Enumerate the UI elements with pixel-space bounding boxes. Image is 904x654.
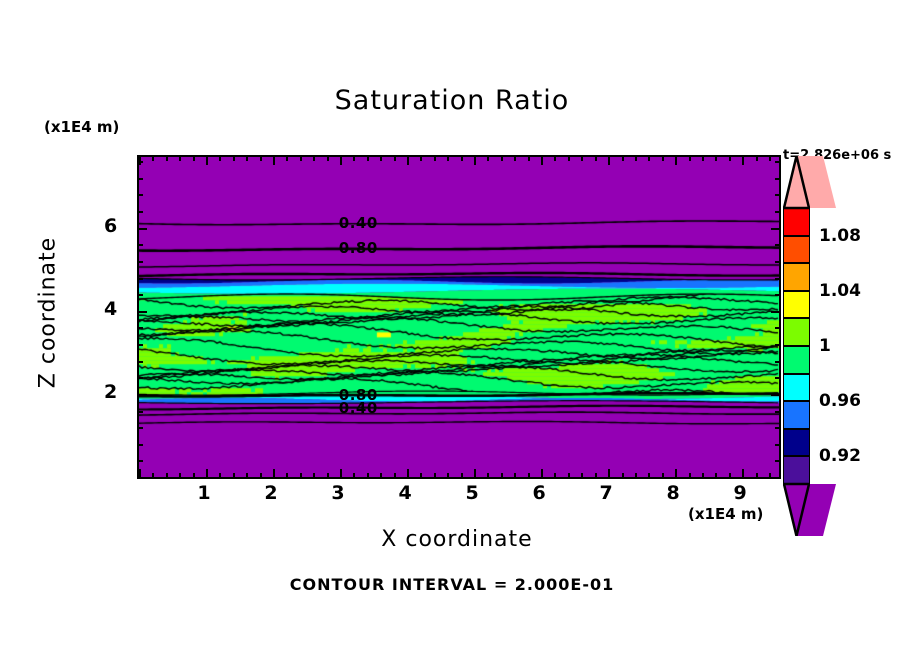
axis-tick xyxy=(501,473,503,478)
axis-tick xyxy=(461,156,463,161)
colorbar-band xyxy=(783,346,810,374)
axis-tick xyxy=(528,156,530,161)
colorbar-tick-label: 0.92 xyxy=(819,446,861,466)
axis-tick xyxy=(300,156,302,161)
axis-tick xyxy=(420,156,422,161)
axis-tick xyxy=(487,156,489,161)
z-axis-units-label: (x1E4 m) xyxy=(44,118,119,136)
x-tick-label: 9 xyxy=(734,482,747,504)
axis-tick xyxy=(662,473,664,478)
axis-tick xyxy=(514,156,516,161)
axis-tick xyxy=(568,156,570,161)
axis-tick xyxy=(771,228,780,230)
axis-tick xyxy=(447,156,449,161)
x-tick-label: 8 xyxy=(667,482,680,504)
contour-interval-label: CONTOUR INTERVAL = 2.000E-01 xyxy=(0,575,904,594)
contour-field-canvas xyxy=(139,157,779,477)
axis-tick xyxy=(166,473,168,478)
axis-tick xyxy=(487,473,489,478)
axis-tick xyxy=(622,156,624,161)
colorbar-band xyxy=(783,401,810,429)
contour-label: 0.40 xyxy=(339,399,378,417)
axis-tick xyxy=(260,156,262,161)
axis-tick xyxy=(138,394,147,396)
y-axis-title: Z coordinate xyxy=(36,233,61,393)
axis-tick xyxy=(233,156,235,161)
axis-tick xyxy=(622,473,624,478)
contour-label: 0.40 xyxy=(339,214,378,232)
axis-tick xyxy=(675,156,677,165)
axis-tick xyxy=(138,411,143,413)
axis-tick xyxy=(775,161,780,163)
axis-tick xyxy=(273,156,275,165)
axis-tick xyxy=(595,473,597,478)
x-tick-label: 4 xyxy=(398,482,411,504)
axis-tick xyxy=(775,361,780,363)
axis-tick xyxy=(219,156,221,161)
axis-tick xyxy=(138,311,147,313)
colorbar-band xyxy=(783,291,810,319)
axis-tick xyxy=(340,469,342,478)
colorbar-band xyxy=(783,208,810,236)
axis-tick xyxy=(152,156,154,161)
axis-tick xyxy=(447,473,449,478)
axis-tick xyxy=(394,156,396,161)
axis-tick xyxy=(771,394,780,396)
axis-tick xyxy=(138,244,143,246)
axis-tick xyxy=(286,473,288,478)
axis-tick xyxy=(353,473,355,478)
axis-tick xyxy=(742,469,744,478)
axis-tick xyxy=(775,211,780,213)
x-axis-title: X coordinate xyxy=(137,527,777,552)
axis-tick xyxy=(313,156,315,161)
axis-tick xyxy=(246,156,248,161)
axis-tick xyxy=(729,473,731,478)
x-tick-label: 2 xyxy=(264,482,277,504)
axis-tick xyxy=(554,156,556,161)
axis-tick xyxy=(138,460,143,462)
axis-tick xyxy=(635,473,637,478)
axis-tick xyxy=(367,473,369,478)
axis-tick xyxy=(340,156,342,165)
axis-tick xyxy=(246,473,248,478)
axis-tick xyxy=(138,294,143,296)
axis-tick xyxy=(193,156,195,161)
axis-tick xyxy=(219,473,221,478)
axis-tick xyxy=(407,469,409,478)
axis-tick xyxy=(541,469,543,478)
axis-tick xyxy=(702,156,704,161)
axis-tick xyxy=(775,278,780,280)
axis-tick xyxy=(729,156,731,161)
axis-tick xyxy=(528,473,530,478)
contour-label: 0.80 xyxy=(339,239,378,257)
axis-tick xyxy=(327,473,329,478)
axis-tick xyxy=(775,327,780,329)
colorbar-tick-label: 1.04 xyxy=(819,281,861,301)
axis-tick xyxy=(420,473,422,478)
axis-tick xyxy=(775,344,780,346)
axis-tick xyxy=(689,156,691,161)
colorbar-band xyxy=(783,263,810,291)
colorbar-band xyxy=(783,236,810,264)
axis-tick xyxy=(689,473,691,478)
axis-tick xyxy=(138,327,143,329)
axis-tick xyxy=(769,473,771,478)
axis-tick xyxy=(775,194,780,196)
axis-tick xyxy=(775,427,780,429)
x-tick-label: 5 xyxy=(465,482,478,504)
contour-plot-area: 0.400.800.800.40 xyxy=(137,155,781,479)
axis-tick xyxy=(775,377,780,379)
axis-tick xyxy=(474,156,476,165)
chart-title: Saturation Ratio xyxy=(0,85,904,116)
axis-tick xyxy=(541,156,543,165)
axis-tick xyxy=(380,156,382,161)
axis-tick xyxy=(138,444,143,446)
x-tick-label: 6 xyxy=(532,482,545,504)
axis-tick xyxy=(775,294,780,296)
colorbar-band xyxy=(783,374,810,402)
axis-tick xyxy=(138,228,147,230)
colorbar-tick-label: 1.08 xyxy=(819,226,861,246)
axis-tick xyxy=(166,156,168,161)
axis-tick xyxy=(662,156,664,161)
x-tick-label: 1 xyxy=(197,482,210,504)
axis-tick xyxy=(138,477,147,479)
axis-tick xyxy=(179,473,181,478)
axis-tick xyxy=(434,473,436,478)
axis-tick xyxy=(675,469,677,478)
axis-tick xyxy=(313,473,315,478)
axis-tick xyxy=(138,377,143,379)
axis-tick xyxy=(514,473,516,478)
colorbar-band xyxy=(783,318,810,346)
y-tick-label: 2 xyxy=(104,381,117,403)
axis-tick xyxy=(581,473,583,478)
axis-tick xyxy=(273,469,275,478)
colorbar-under-arrow xyxy=(783,484,836,536)
axis-tick xyxy=(138,161,143,163)
axis-tick xyxy=(179,156,181,161)
axis-tick xyxy=(300,473,302,478)
axis-tick xyxy=(771,477,780,479)
axis-tick xyxy=(568,473,570,478)
axis-tick xyxy=(138,194,143,196)
axis-tick xyxy=(152,473,154,478)
x-tick-label: 7 xyxy=(599,482,612,504)
axis-tick xyxy=(769,156,771,161)
axis-tick xyxy=(775,244,780,246)
axis-tick xyxy=(775,261,780,263)
x-axis-units-label: (x1E4 m) xyxy=(688,505,763,523)
axis-tick xyxy=(206,469,208,478)
colorbar-over-arrow xyxy=(783,156,836,208)
axis-tick xyxy=(501,156,503,161)
axis-tick xyxy=(715,473,717,478)
axis-tick xyxy=(635,156,637,161)
axis-tick xyxy=(775,411,780,413)
axis-tick xyxy=(233,473,235,478)
axis-tick xyxy=(138,344,143,346)
axis-tick xyxy=(138,178,143,180)
axis-tick xyxy=(367,156,369,161)
colorbar-tick-label: 0.96 xyxy=(819,391,861,411)
x-tick-label: 3 xyxy=(331,482,344,504)
axis-tick xyxy=(407,156,409,165)
axis-tick xyxy=(138,361,143,363)
axis-tick xyxy=(775,178,780,180)
axis-tick xyxy=(595,156,597,161)
axis-tick xyxy=(138,427,143,429)
colorbar-band xyxy=(783,429,810,457)
axis-tick xyxy=(193,473,195,478)
axis-tick xyxy=(742,156,744,165)
axis-tick xyxy=(608,469,610,478)
axis-tick xyxy=(715,156,717,161)
axis-tick xyxy=(648,473,650,478)
axis-tick xyxy=(353,156,355,161)
axis-tick xyxy=(286,156,288,161)
axis-tick xyxy=(380,473,382,478)
axis-tick xyxy=(474,469,476,478)
axis-tick xyxy=(394,473,396,478)
axis-tick xyxy=(554,473,556,478)
axis-tick xyxy=(206,156,208,165)
axis-tick xyxy=(260,473,262,478)
colorbar-tick-label: 1 xyxy=(819,336,831,356)
y-tick-label: 4 xyxy=(104,298,117,320)
axis-tick xyxy=(138,261,143,263)
colorbar: 1.081.0410.960.92 xyxy=(783,208,810,484)
axis-tick xyxy=(581,156,583,161)
axis-tick xyxy=(756,156,758,161)
colorbar-band xyxy=(783,456,810,484)
axis-tick xyxy=(608,156,610,165)
axis-tick xyxy=(138,211,143,213)
axis-tick xyxy=(775,444,780,446)
y-tick-label: 6 xyxy=(104,215,117,237)
axis-tick xyxy=(775,460,780,462)
axis-tick xyxy=(434,156,436,161)
axis-tick xyxy=(756,473,758,478)
axis-tick xyxy=(461,473,463,478)
axis-tick xyxy=(771,311,780,313)
axis-tick xyxy=(327,156,329,161)
axis-tick xyxy=(648,156,650,161)
axis-tick xyxy=(702,473,704,478)
axis-tick xyxy=(138,278,143,280)
